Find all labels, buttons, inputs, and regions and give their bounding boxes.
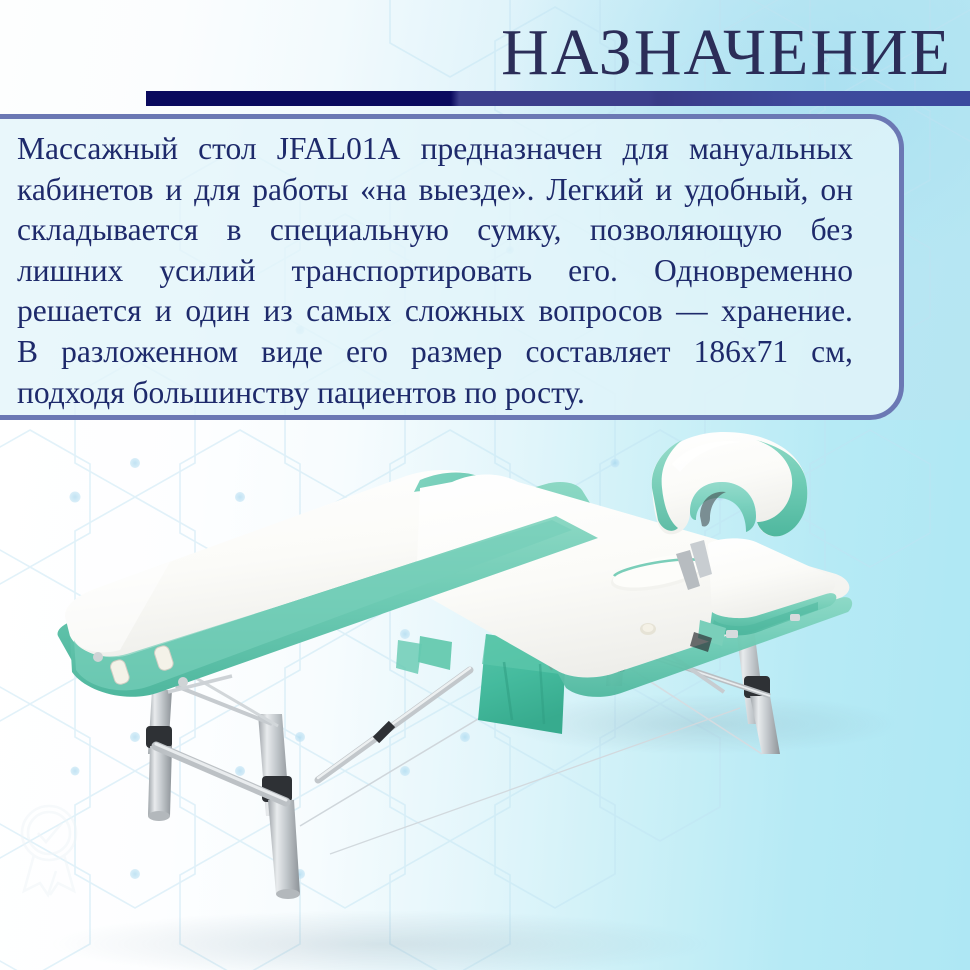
- description-word: выезде».: [419, 170, 535, 211]
- description-word: он: [820, 170, 853, 211]
- description-word: удобный,: [684, 170, 808, 211]
- description-word: его.: [568, 251, 618, 292]
- description-word: сложных: [405, 291, 525, 332]
- description-word: позволяющую: [590, 210, 782, 251]
- description-word: транспортировать: [292, 251, 533, 292]
- description-word: и: [165, 170, 182, 211]
- description-word: см,: [811, 332, 853, 373]
- description-word: самых: [306, 291, 391, 332]
- description-word: JFAL01A: [277, 129, 401, 170]
- description-word: складывается: [17, 210, 198, 251]
- description-line-text: подходя большинству пациентов по росту.: [17, 375, 585, 410]
- description-word: специальную: [270, 210, 449, 251]
- description-line: решаетсяиодинизсамыхсложныхвопросов—хран…: [17, 291, 853, 332]
- description-word: вопросов: [538, 291, 662, 332]
- description-word: составляет: [525, 332, 670, 373]
- description-word: работы: [252, 170, 348, 211]
- description-word: Массажный: [17, 129, 178, 170]
- description-word: решается: [17, 291, 142, 332]
- product-photo: [0, 424, 970, 970]
- description-word: и: [155, 291, 172, 332]
- description-word: кабинетов: [17, 170, 154, 211]
- description-line: подходя большинству пациентов по росту.: [17, 373, 853, 414]
- description-word: усилий: [159, 251, 255, 292]
- description-word: размер: [411, 332, 502, 373]
- description-line: кабинетовидляработы«навыезде».Легкийиудо…: [17, 170, 853, 211]
- title-accent-bar: [146, 91, 970, 106]
- description-line: Вразложенномвидеегоразмерсоставляет186x7…: [17, 332, 853, 373]
- page-title: НАЗНАЧЕНИЕ: [0, 14, 952, 92]
- description-text: МассажныйстолJFAL01Aпредназначендлямануа…: [17, 129, 853, 413]
- description-word: лишних: [17, 251, 123, 292]
- description-word: без: [811, 210, 853, 251]
- description-word: один: [185, 291, 250, 332]
- description-word: и: [655, 170, 672, 211]
- description-word: мануальных: [689, 129, 853, 170]
- description-word: —: [676, 291, 708, 332]
- description-word: из: [263, 291, 292, 332]
- description-word: хранение.: [721, 291, 853, 332]
- description-word: 186x71: [694, 332, 789, 373]
- description-word: в: [227, 210, 242, 251]
- description-line: лишнихусилийтранспортироватьего.Одноврем…: [17, 251, 853, 292]
- description-line: МассажныйстолJFAL01Aпредназначендлямануа…: [17, 129, 853, 170]
- description-panel: МассажныйстолJFAL01Aпредназначендлямануа…: [0, 114, 904, 420]
- description-word: для: [623, 129, 669, 170]
- description-word: Легкий: [546, 170, 643, 211]
- description-word: для: [194, 170, 240, 211]
- slide-root: НАЗНАЧЕНИЕ МассажныйстолJFAL01Aпредназна…: [0, 0, 970, 970]
- description-word: сумку,: [477, 210, 561, 251]
- description-line: складываетсявспециальнуюсумку,позволяющу…: [17, 210, 853, 251]
- description-word: предназначен: [421, 129, 603, 170]
- description-word: виде: [261, 332, 323, 373]
- description-word: стол: [198, 129, 256, 170]
- description-word: «на: [360, 170, 407, 211]
- description-word: В: [17, 332, 38, 373]
- description-word: его: [346, 332, 388, 373]
- description-word: Одновременно: [654, 251, 853, 292]
- description-word: разложенном: [61, 332, 238, 373]
